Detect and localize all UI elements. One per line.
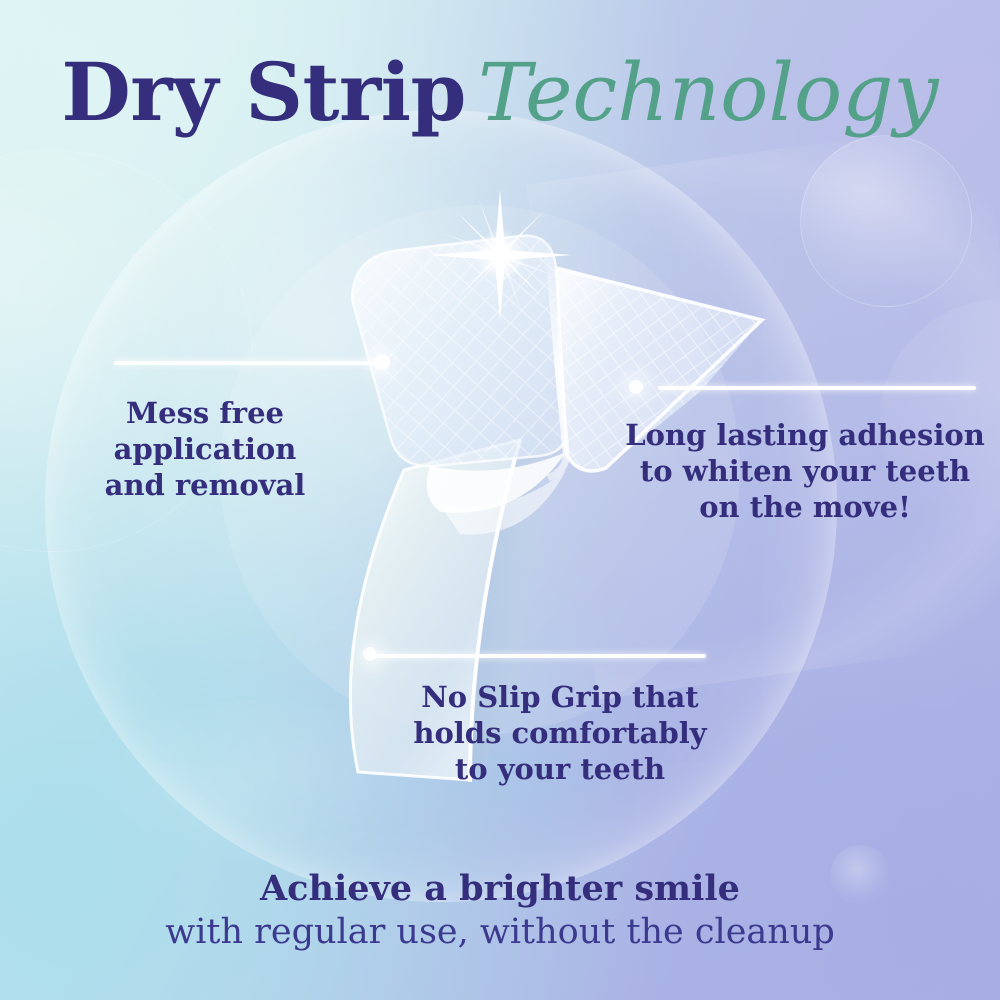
callout-mess-free: Mess free application and removal [60, 396, 350, 504]
callout-line: to your teeth [390, 752, 730, 788]
promotional-poster: Dry StripTechnology Mess free applicatio… [0, 0, 1000, 1000]
title-italic-part: Technology [478, 46, 939, 139]
tagline-line-1: Achieve a brighter smile [0, 868, 1000, 910]
callout-long-lasting-adhesion: Long lasting adhesion to whiten your tee… [620, 418, 990, 526]
leader-dot-long-lasting [629, 381, 642, 394]
title-bold-part: Dry Strip [61, 45, 466, 139]
callout-line: and removal [60, 468, 350, 504]
tagline-line-2: with regular use, without the cleanup [0, 910, 1000, 955]
leader-line-no-slip-grip [372, 654, 706, 658]
callout-line: No Slip Grip that [390, 680, 730, 716]
callout-no-slip-grip: No Slip Grip that holds comfortably to y… [390, 680, 730, 788]
leader-line-mess-free [114, 361, 380, 365]
leader-dot-mess-free [374, 356, 387, 369]
callout-line: application [60, 432, 350, 468]
callout-line: on the move! [620, 490, 990, 526]
callout-line: Long lasting adhesion [620, 418, 990, 454]
page-title: Dry StripTechnology [0, 52, 1000, 133]
leader-line-long-lasting [658, 386, 976, 390]
tagline: Achieve a brighter smile with regular us… [0, 868, 1000, 955]
callout-line: holds comfortably [390, 716, 730, 752]
callout-line: to whiten your teeth [620, 454, 990, 490]
leader-dot-no-slip-grip [365, 649, 378, 662]
callout-line: Mess free [60, 396, 350, 432]
